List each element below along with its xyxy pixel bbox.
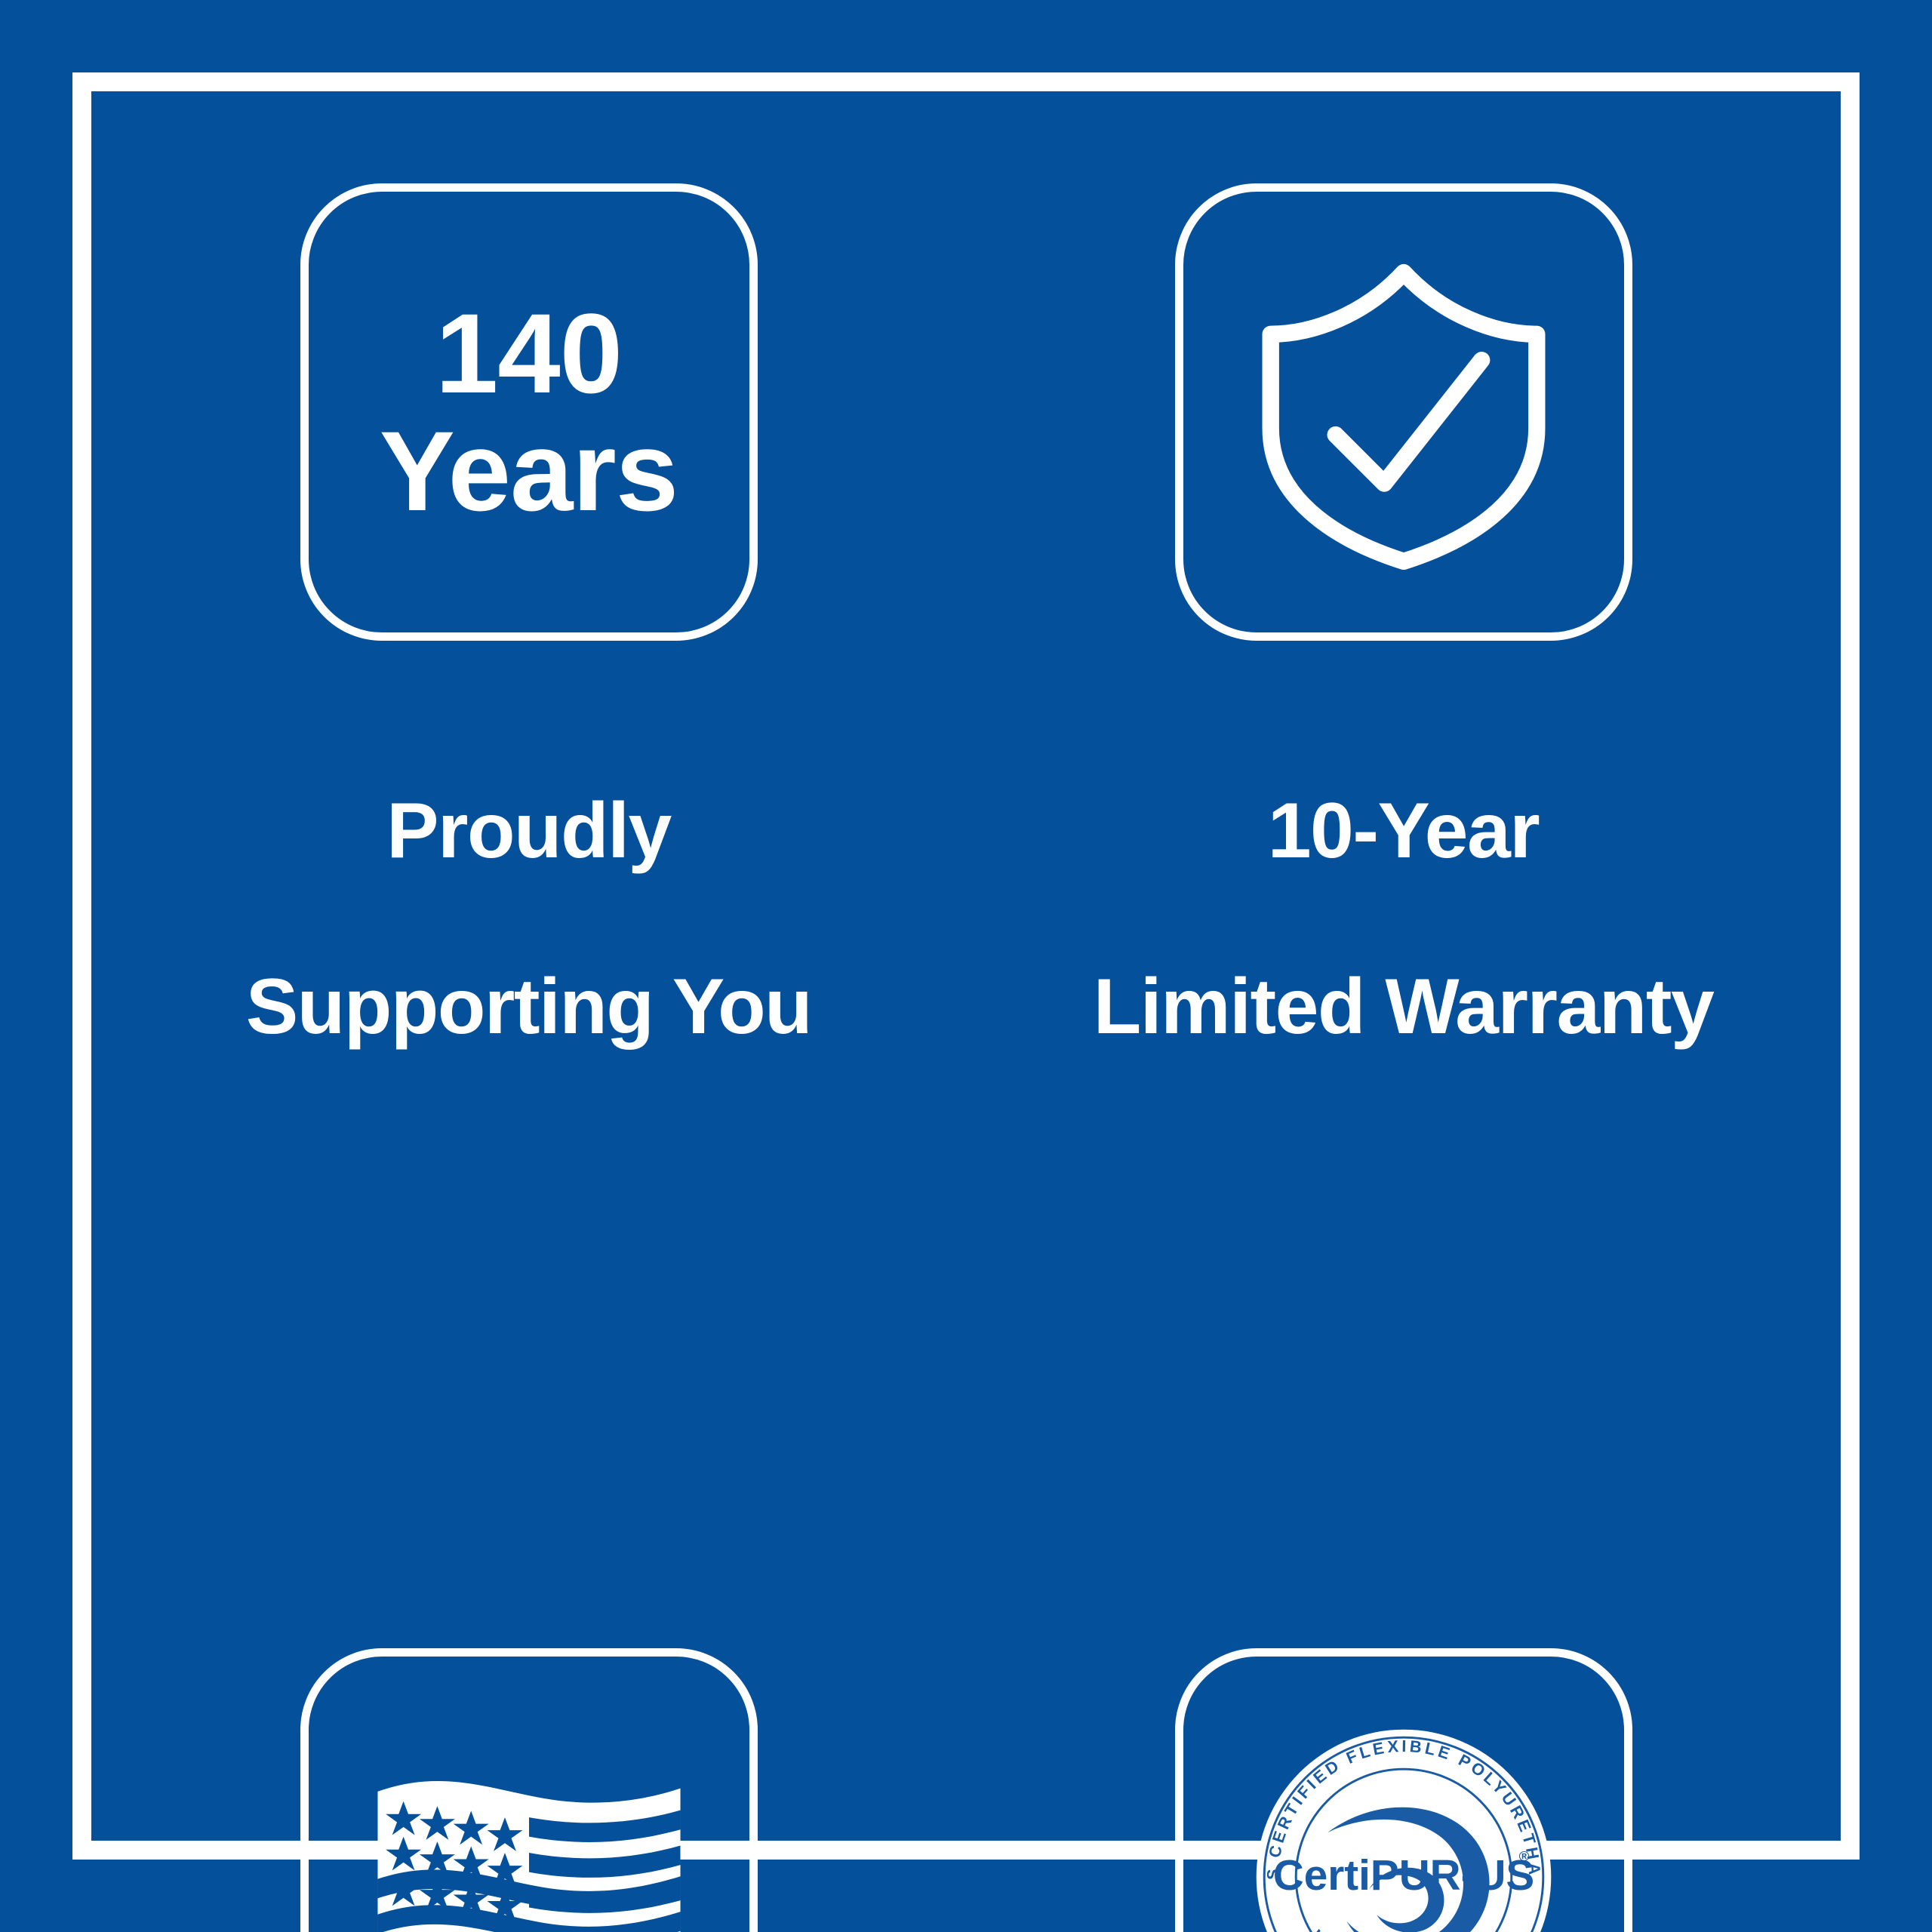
promo-graphic: 140 Years Proudly Supporting You — [0, 0, 1932, 1932]
feature-cell-years: 140 Years Proudly Supporting You — [91, 91, 966, 1139]
caption-line-2: Limited Warranty — [1094, 963, 1714, 1051]
certipur-seal-center-text: CertiPUR-US — [1272, 1852, 1534, 1900]
feature-caption-years: Proudly Supporting You — [246, 700, 811, 1139]
certipur-icon-frame: CertiPUR-US ® CONTAINS CERTIFIED FLEXIBL… — [1175, 1648, 1632, 1932]
feature-caption-warranty: 10-Year Limited Warranty — [1094, 700, 1714, 1139]
caption-line-1: Proudly — [246, 787, 811, 875]
caption-line-1: 10-Year — [1094, 787, 1714, 875]
feature-cell-usa: Designed and Assembled in the USA — [91, 1139, 966, 1932]
feature-cell-warranty: 10-Year Limited Warranty — [966, 91, 1841, 1139]
years-word: Years — [380, 412, 678, 530]
usa-flag-icon — [367, 1756, 691, 1932]
feature-grid: 140 Years Proudly Supporting You — [91, 91, 1841, 1841]
shield-icon-frame — [1175, 183, 1632, 641]
140-years-badge-icon: 140 Years — [300, 183, 758, 641]
flag-icon-frame — [300, 1648, 758, 1932]
caption-line-2: Supporting You — [246, 963, 811, 1051]
years-number: 140 — [380, 294, 678, 412]
shield-check-icon — [1241, 250, 1566, 574]
feature-cell-certipur: CertiPUR-US ® CONTAINS CERTIFIED FLEXIBL… — [966, 1139, 1841, 1932]
certipur-us-seal-icon: CertiPUR-US ® CONTAINS CERTIFIED FLEXIBL… — [1245, 1718, 1562, 1932]
